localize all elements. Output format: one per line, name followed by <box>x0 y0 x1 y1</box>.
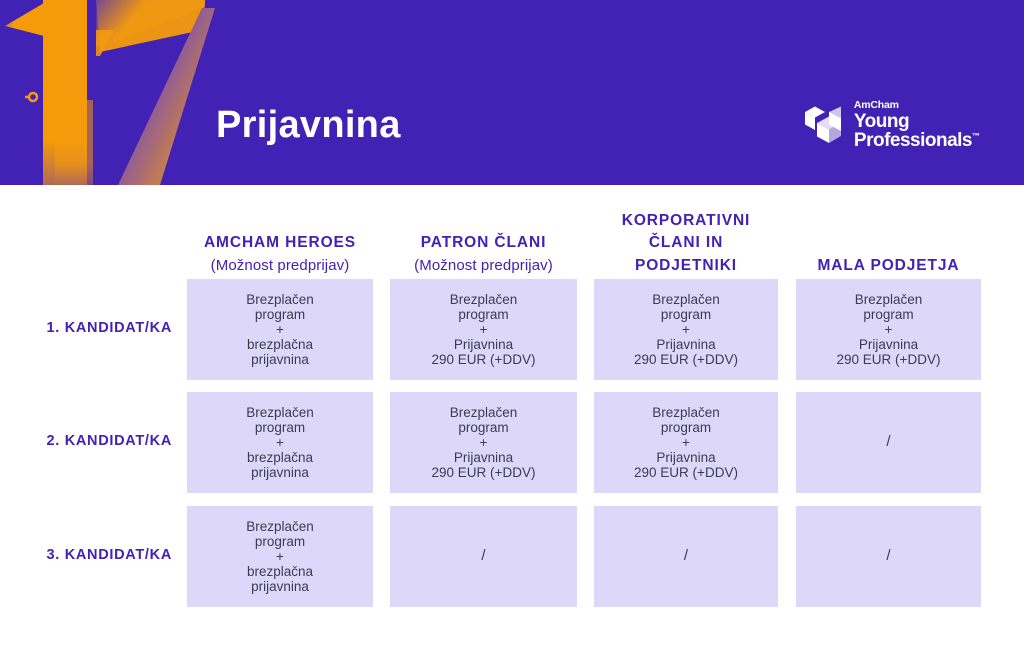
cell-text: / <box>481 548 485 565</box>
row-label-kandidat-1: 1. KANDIDAT/KA <box>0 320 172 336</box>
table-cell: Brezplačen program + Prijavnina 290 EUR … <box>594 392 778 493</box>
cell-text: / <box>684 548 688 565</box>
logo-wordmark: AmCham Young Professionals™ <box>854 100 980 150</box>
column-header-amcham-heroes: AMCHAM HEROES (Možnost predprijav) <box>187 232 373 277</box>
page-title: Prijavnina <box>216 106 401 144</box>
column-header-title: MALA PODJETJA <box>796 255 981 277</box>
column-header-title: PATRON ČLANI <box>390 232 577 254</box>
header-band: Prijavnina AmCham Young Professionals™ <box>0 0 1024 185</box>
table-cell: Brezplačen program + brezplačna prijavni… <box>187 506 373 607</box>
logo-young-text: Young <box>854 112 980 131</box>
table-cell: / <box>796 392 981 493</box>
cell-text: Brezplačen program + brezplačna prijavni… <box>246 405 314 481</box>
column-header-mala-podjetja: MALA PODJETJA <box>796 255 981 277</box>
column-header-patron-clani: PATRON ČLANI (Možnost predprijav) <box>390 232 577 277</box>
cell-text: Brezplačen program + Prijavnina 290 EUR … <box>432 292 536 368</box>
table-cell: / <box>796 506 981 607</box>
cell-text: Brezplačen program + Prijavnina 290 EUR … <box>634 292 738 368</box>
cell-text: / <box>886 434 890 451</box>
cell-text: Brezplačen program + brezplačna prijavni… <box>246 292 314 368</box>
table-cell: Brezplačen program + Prijavnina 290 EUR … <box>594 279 778 380</box>
logo-amcham-text: AmCham <box>854 100 980 111</box>
column-header-korporativni-clani-in-podjetniki: KORPORATIVNI ČLANI IN PODJETNIKI <box>594 210 778 277</box>
cell-text: Brezplačen program + brezplačna prijavni… <box>246 519 314 595</box>
table-cell: Brezplačen program + Prijavnina 290 EUR … <box>796 279 981 380</box>
pricing-table: AMCHAM HEROES (Možnost predprijav) PATRO… <box>0 185 1024 648</box>
column-header-subtitle: (Možnost predprijav) <box>390 255 577 278</box>
amcham-young-professionals-logo: AmCham Young Professionals™ <box>803 100 980 150</box>
table-cell: / <box>390 506 577 607</box>
cell-text: Brezplačen program + Prijavnina 290 EUR … <box>432 405 536 481</box>
cell-text: Brezplačen program + Prijavnina 290 EUR … <box>634 405 738 481</box>
table-cell: Brezplačen program + brezplačna prijavni… <box>187 279 373 380</box>
row-label-kandidat-2: 2. KANDIDAT/KA <box>0 433 172 449</box>
table-column-headers: AMCHAM HEROES (Možnost predprijav) PATRO… <box>0 185 1024 279</box>
table-cell: Brezplačen program + Prijavnina 290 EUR … <box>390 279 577 380</box>
column-header-title: AMCHAM HEROES <box>187 232 373 254</box>
column-header-subtitle: (Možnost predprijav) <box>187 255 373 278</box>
table-cell: Brezplačen program + brezplačna prijavni… <box>187 392 373 493</box>
trademark-icon: ™ <box>972 132 980 141</box>
amcham-y-logo-icon <box>803 105 843 145</box>
decorative-numeral-17-graphic <box>0 0 215 185</box>
cell-text: Brezplačen program + Prijavnina 290 EUR … <box>837 292 941 368</box>
column-header-title: KORPORATIVNI ČLANI IN PODJETNIKI <box>594 210 778 277</box>
logo-professionals-text: Professionals <box>854 130 972 151</box>
table-cell: Brezplačen program + Prijavnina 290 EUR … <box>390 392 577 493</box>
row-label-kandidat-3: 3. KANDIDAT/KA <box>0 547 172 563</box>
cell-text: / <box>886 548 890 565</box>
table-cell: / <box>594 506 778 607</box>
